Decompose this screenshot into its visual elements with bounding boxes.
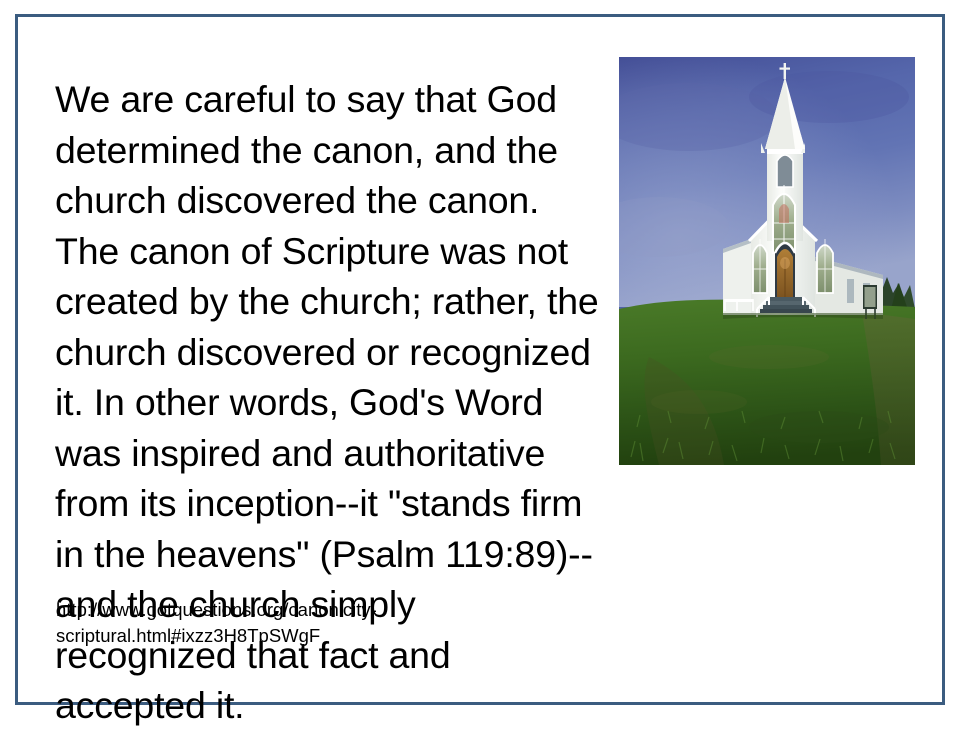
slide: We are careful to say that God determine…	[0, 0, 960, 720]
church-illustration	[619, 57, 915, 465]
slide-content: We are careful to say that God determine…	[0, 0, 960, 720]
source-citation-url: http://www.gotquestions.org/canonicity-s…	[56, 597, 456, 649]
church-on-hill-photo	[619, 57, 915, 465]
